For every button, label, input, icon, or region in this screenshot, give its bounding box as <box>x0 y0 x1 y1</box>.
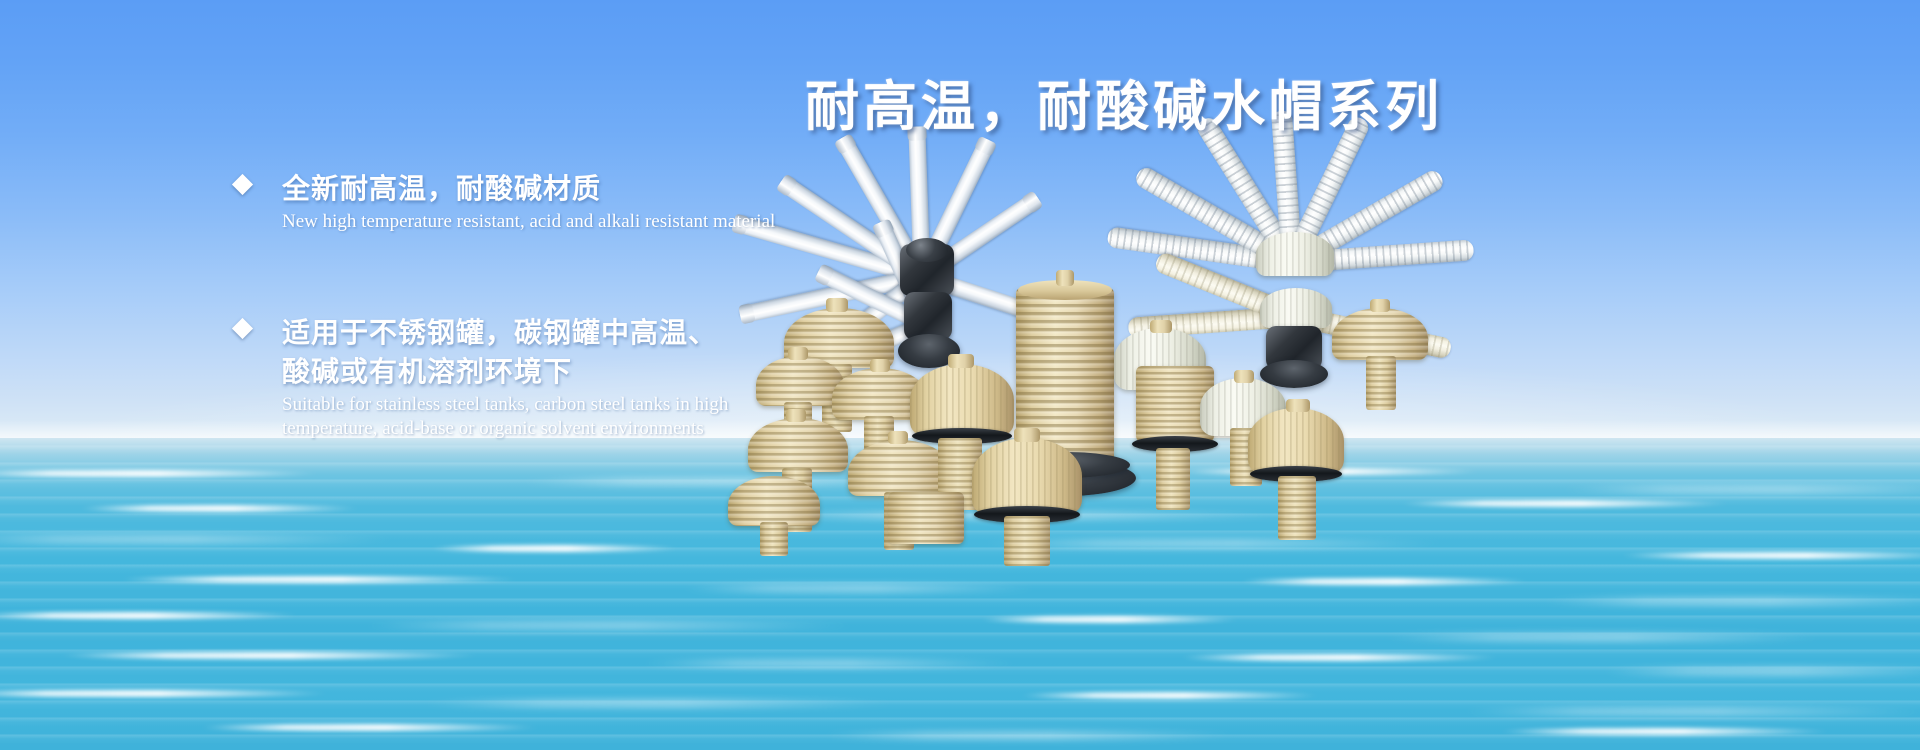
page-title: 耐高温，耐酸碱水帽系列 <box>805 62 1425 141</box>
feature-2-heading-line-1: 适用于不锈钢罐，碳钢罐中高温、 <box>282 312 932 353</box>
feature-item-1: 全新耐高温，耐酸碱材质 New high temperature resista… <box>232 168 932 233</box>
feature-1-subtext: New high temperature resistant, acid and… <box>282 210 932 233</box>
diamond-bullet-icon <box>232 318 254 340</box>
feature-item-2: 适用于不锈钢罐，碳钢罐中高温、 酸碱或有机溶剂环境下 Suitable for … <box>232 312 932 440</box>
marketing-banner: 耐高温，耐酸碱水帽系列 全新耐高温，耐酸碱材质 New high tempera… <box>0 0 1920 750</box>
feature-2-subtext-line-1: Suitable for stainless steel tanks, carb… <box>282 393 932 416</box>
feature-2-subtext-line-2: temperature, acid-base or organic solven… <box>282 417 932 440</box>
diamond-bullet-icon <box>232 174 254 196</box>
feature-1-heading: 全新耐高温，耐酸碱材质 <box>282 168 932 209</box>
feature-2-heading-line-2: 酸碱或有机溶剂环境下 <box>282 351 932 392</box>
